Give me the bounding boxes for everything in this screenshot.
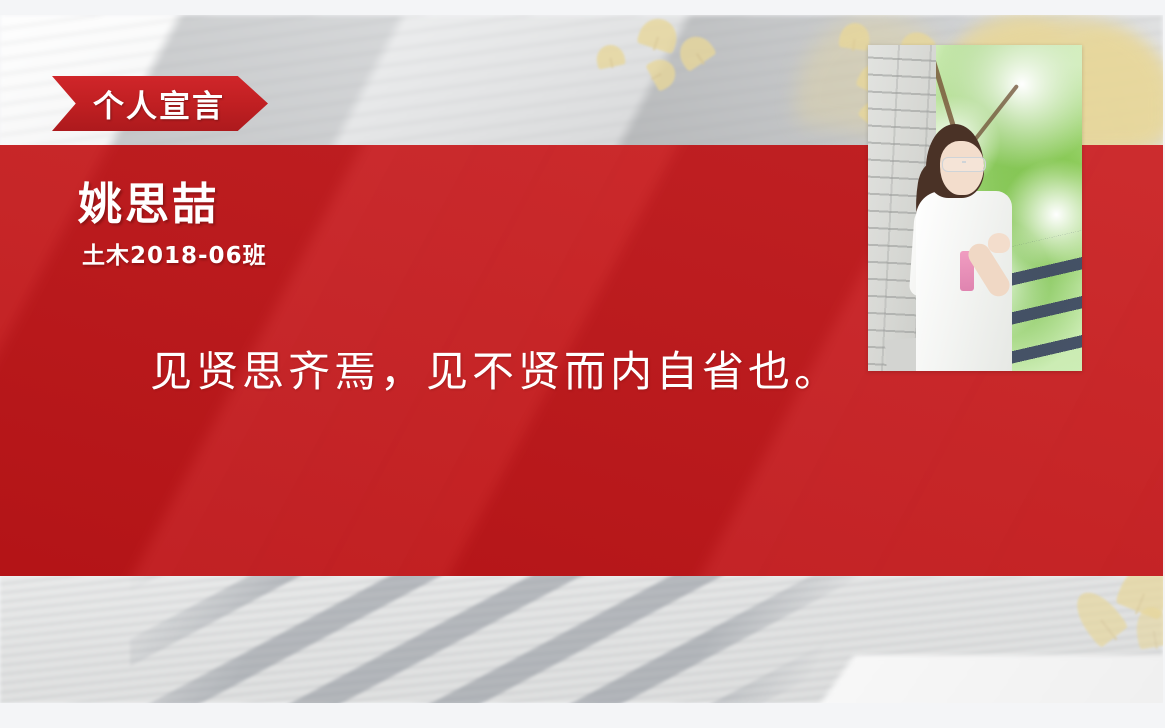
background-concrete-slab bbox=[700, 655, 1163, 703]
personal-declaration-slide: 个人宣言 姚思喆 土木2018-06班 见贤思齐焉，见不贤而内自省也。 bbox=[0, 0, 1165, 728]
glasses-icon bbox=[942, 157, 986, 172]
student-name: 姚思喆 bbox=[78, 182, 267, 228]
bottom-margin-strip bbox=[0, 703, 1165, 728]
student-portrait-photo bbox=[868, 45, 1082, 371]
student-identity: 姚思喆 土木2018-06班 bbox=[78, 182, 267, 270]
student-class: 土木2018-06班 bbox=[82, 236, 267, 270]
top-margin-strip bbox=[0, 0, 1165, 15]
portrait-hand bbox=[988, 233, 1010, 253]
declaration-quote: 见贤思齐焉，见不贤而内自省也。 bbox=[150, 338, 850, 399]
section-ribbon: 个人宣言 bbox=[52, 76, 268, 131]
ribbon-title: 个人宣言 bbox=[52, 76, 248, 131]
